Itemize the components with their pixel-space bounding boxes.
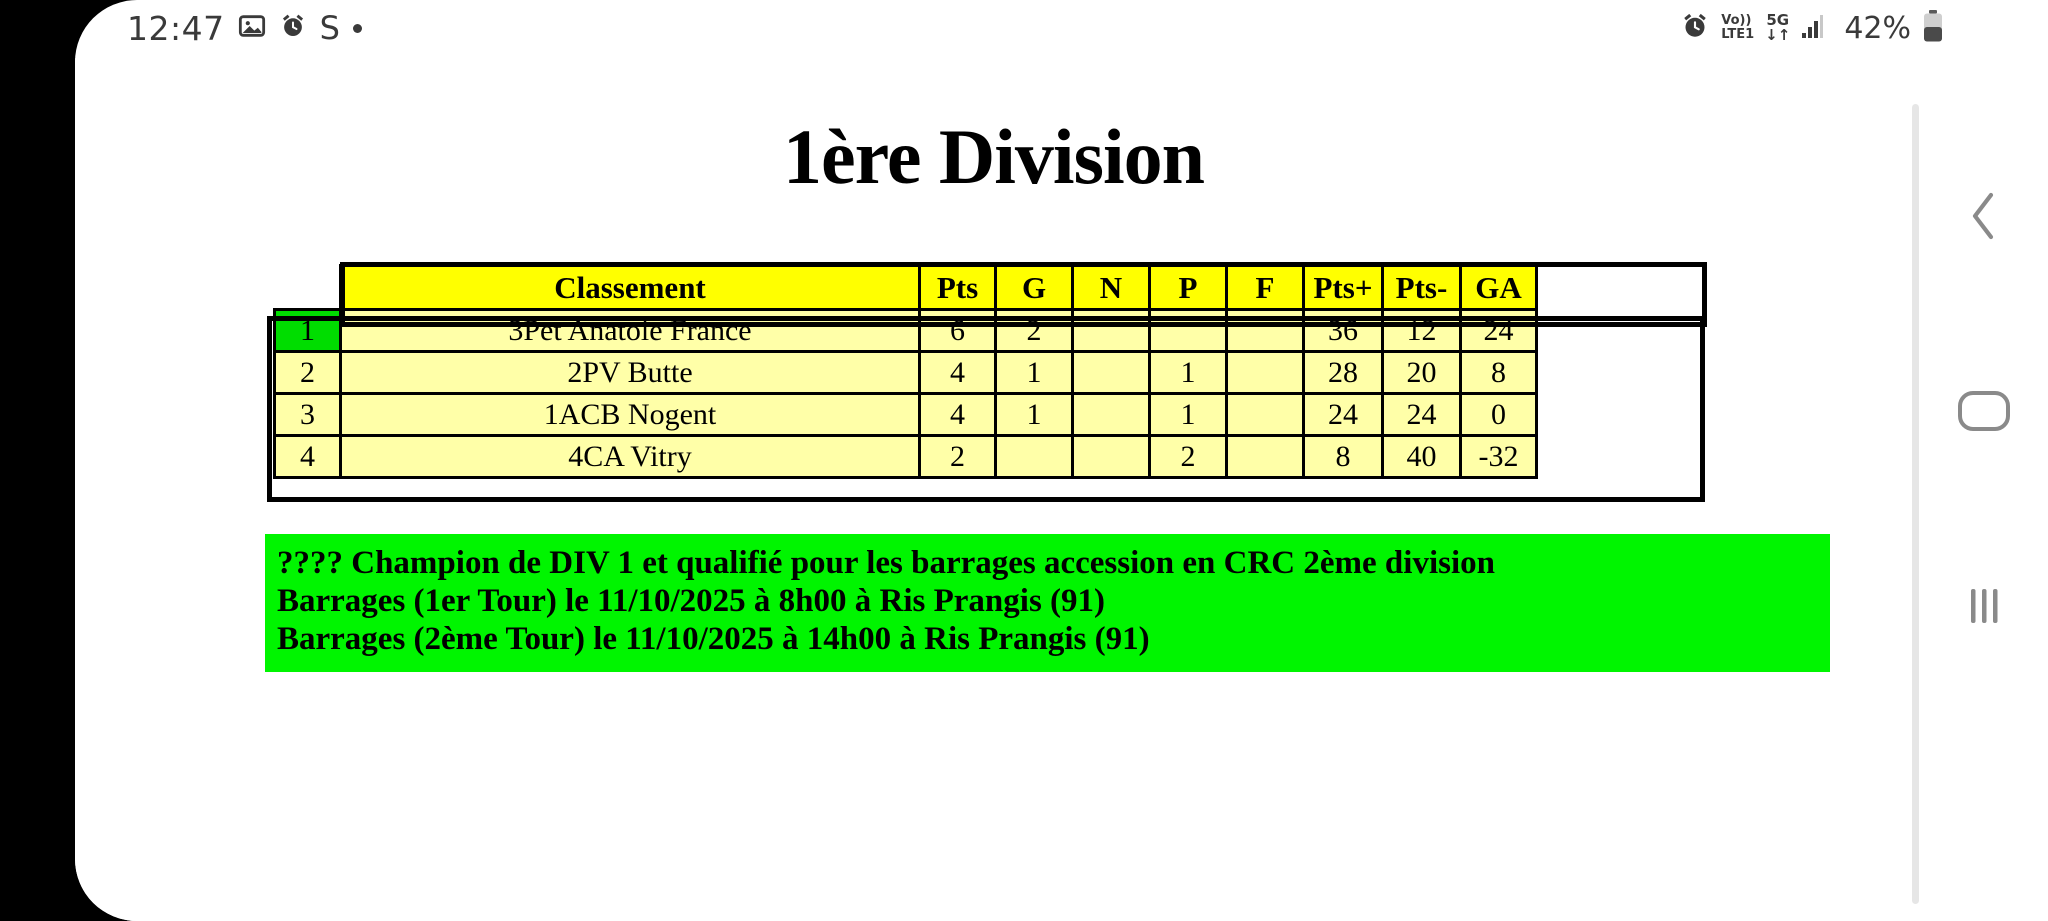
cell-g: [996, 436, 1073, 478]
status-bar-left-group: 12:47 S: [127, 6, 362, 50]
cell-rank: 4: [275, 436, 341, 478]
cell-g: 1: [996, 394, 1073, 436]
cell-f: [1227, 394, 1304, 436]
cell-pts-minus: 12: [1383, 310, 1461, 352]
cell-ga: 0: [1461, 394, 1537, 436]
table-row[interactable]: 22PV Butte41128208: [275, 352, 1537, 394]
cell-g: 1: [996, 352, 1073, 394]
phone-screen: 12:47 S: [75, 0, 2048, 921]
cell-team: 4CA Vitry: [341, 436, 920, 478]
back-chevron-icon: [1964, 188, 2004, 249]
signal-bars-icon: [1801, 13, 1831, 44]
column-header-p[interactable]: P: [1150, 266, 1227, 310]
cell-pts-plus: 8: [1304, 436, 1383, 478]
cell-pts: 2: [920, 436, 996, 478]
status-bar: 12:47 S: [75, 0, 2048, 58]
standings-table-header: Classement Pts G N P F Pts+ Pts- GA: [275, 266, 1537, 310]
volte-top-label: Vo)): [1721, 14, 1754, 28]
cell-pts: 6: [920, 310, 996, 352]
data-arrows-label: ↓↑: [1765, 28, 1790, 43]
cell-team: 2PV Butte: [341, 352, 920, 394]
battery-icon: [1922, 10, 1944, 47]
cell-ga: 8: [1461, 352, 1537, 394]
cell-team: 3Pet Anatole France: [341, 310, 920, 352]
column-header-classement[interactable]: Classement: [341, 266, 920, 310]
status-bar-clock: 12:47: [127, 9, 225, 48]
standings-table-container: Classement Pts G N P F Pts+ Pts- GA 13Pe…: [273, 264, 1538, 479]
status-dot-icon: [353, 24, 362, 33]
cell-n: [1073, 436, 1150, 478]
rank-column-spacer: [275, 266, 341, 310]
column-header-n[interactable]: N: [1073, 266, 1150, 310]
cell-team: 1ACB Nogent: [341, 394, 920, 436]
column-header-pts-minus[interactable]: Pts-: [1383, 266, 1461, 310]
cell-f: [1227, 352, 1304, 394]
battery-percentage-label: 42%: [1844, 11, 1911, 46]
cell-rank: 1: [275, 310, 341, 352]
cell-pts: 4: [920, 394, 996, 436]
column-header-g[interactable]: G: [996, 266, 1073, 310]
note-line: ???? Champion de DIV 1 et qualifié pour …: [271, 544, 1830, 582]
cell-n: [1073, 394, 1150, 436]
alarm-icon: [279, 12, 307, 45]
cell-pts-plus: 24: [1304, 394, 1383, 436]
table-row[interactable]: 31ACB Nogent41124240: [275, 394, 1537, 436]
cell-pts-plus: 36: [1304, 310, 1383, 352]
column-header-ga[interactable]: GA: [1461, 266, 1537, 310]
standings-table: Classement Pts G N P F Pts+ Pts- GA 13Pe…: [273, 264, 1538, 479]
recents-button[interactable]: [1919, 558, 2048, 658]
table-row[interactable]: 13Pet Anatole France62361224: [275, 310, 1537, 352]
note-line: Barrages (2ème Tour) le 11/10/2025 à 14h…: [271, 620, 1830, 658]
cell-g: 2: [996, 310, 1073, 352]
cell-p: [1150, 310, 1227, 352]
volte-icon: Vo)) LTE1: [1721, 14, 1754, 42]
cell-pts-plus: 28: [1304, 352, 1383, 394]
cell-p: 2: [1150, 436, 1227, 478]
android-navigation-bar: [1919, 58, 2048, 921]
alarm-icon: [1680, 11, 1710, 46]
cell-pts: 4: [920, 352, 996, 394]
table-row[interactable]: 44CA Vitry22840-32: [275, 436, 1537, 478]
cell-f: [1227, 436, 1304, 478]
document-page: 1ère Division Classement Pts G N P F Pt: [75, 58, 1912, 921]
image-icon: [238, 12, 266, 45]
cell-n: [1073, 310, 1150, 352]
qualification-notes-block: ???? Champion de DIV 1 et qualifié pour …: [265, 534, 1830, 672]
note-line: Barrages (1er Tour) le 11/10/2025 à 8h00…: [271, 582, 1830, 620]
recents-icon: [1962, 584, 2006, 633]
phone-device-frame: 12:47 S: [0, 0, 2048, 921]
standings-table-body: 13Pet Anatole France6236122422PV Butte41…: [275, 310, 1537, 478]
page-title: 1ère Division: [75, 112, 1912, 202]
column-header-pts[interactable]: Pts: [920, 266, 996, 310]
cell-ga: -32: [1461, 436, 1537, 478]
cell-p: 1: [1150, 394, 1227, 436]
back-button[interactable]: [1919, 168, 2048, 268]
cell-pts-minus: 20: [1383, 352, 1461, 394]
cell-pts-minus: 24: [1383, 394, 1461, 436]
cell-rank: 3: [275, 394, 341, 436]
cell-rank: 2: [275, 352, 341, 394]
volte-bottom-label: LTE1: [1721, 28, 1754, 42]
home-button[interactable]: [1919, 363, 2048, 463]
column-header-f[interactable]: F: [1227, 266, 1304, 310]
column-header-pts-plus[interactable]: Pts+: [1304, 266, 1383, 310]
home-icon: [1957, 390, 2011, 437]
cell-f: [1227, 310, 1304, 352]
network-type-icon: 5G ↓↑: [1765, 13, 1790, 43]
table-header-row: Classement Pts G N P F Pts+ Pts- GA: [275, 266, 1537, 310]
cell-p: 1: [1150, 352, 1227, 394]
cell-ga: 24: [1461, 310, 1537, 352]
status-bar-right-group: Vo)) LTE1 5G ↓↑ 42%: [1680, 6, 1944, 50]
cell-n: [1073, 352, 1150, 394]
page-scroll-track[interactable]: [1912, 104, 1919, 904]
cell-pts-minus: 40: [1383, 436, 1461, 478]
samsung-app-icon: S: [320, 9, 340, 47]
